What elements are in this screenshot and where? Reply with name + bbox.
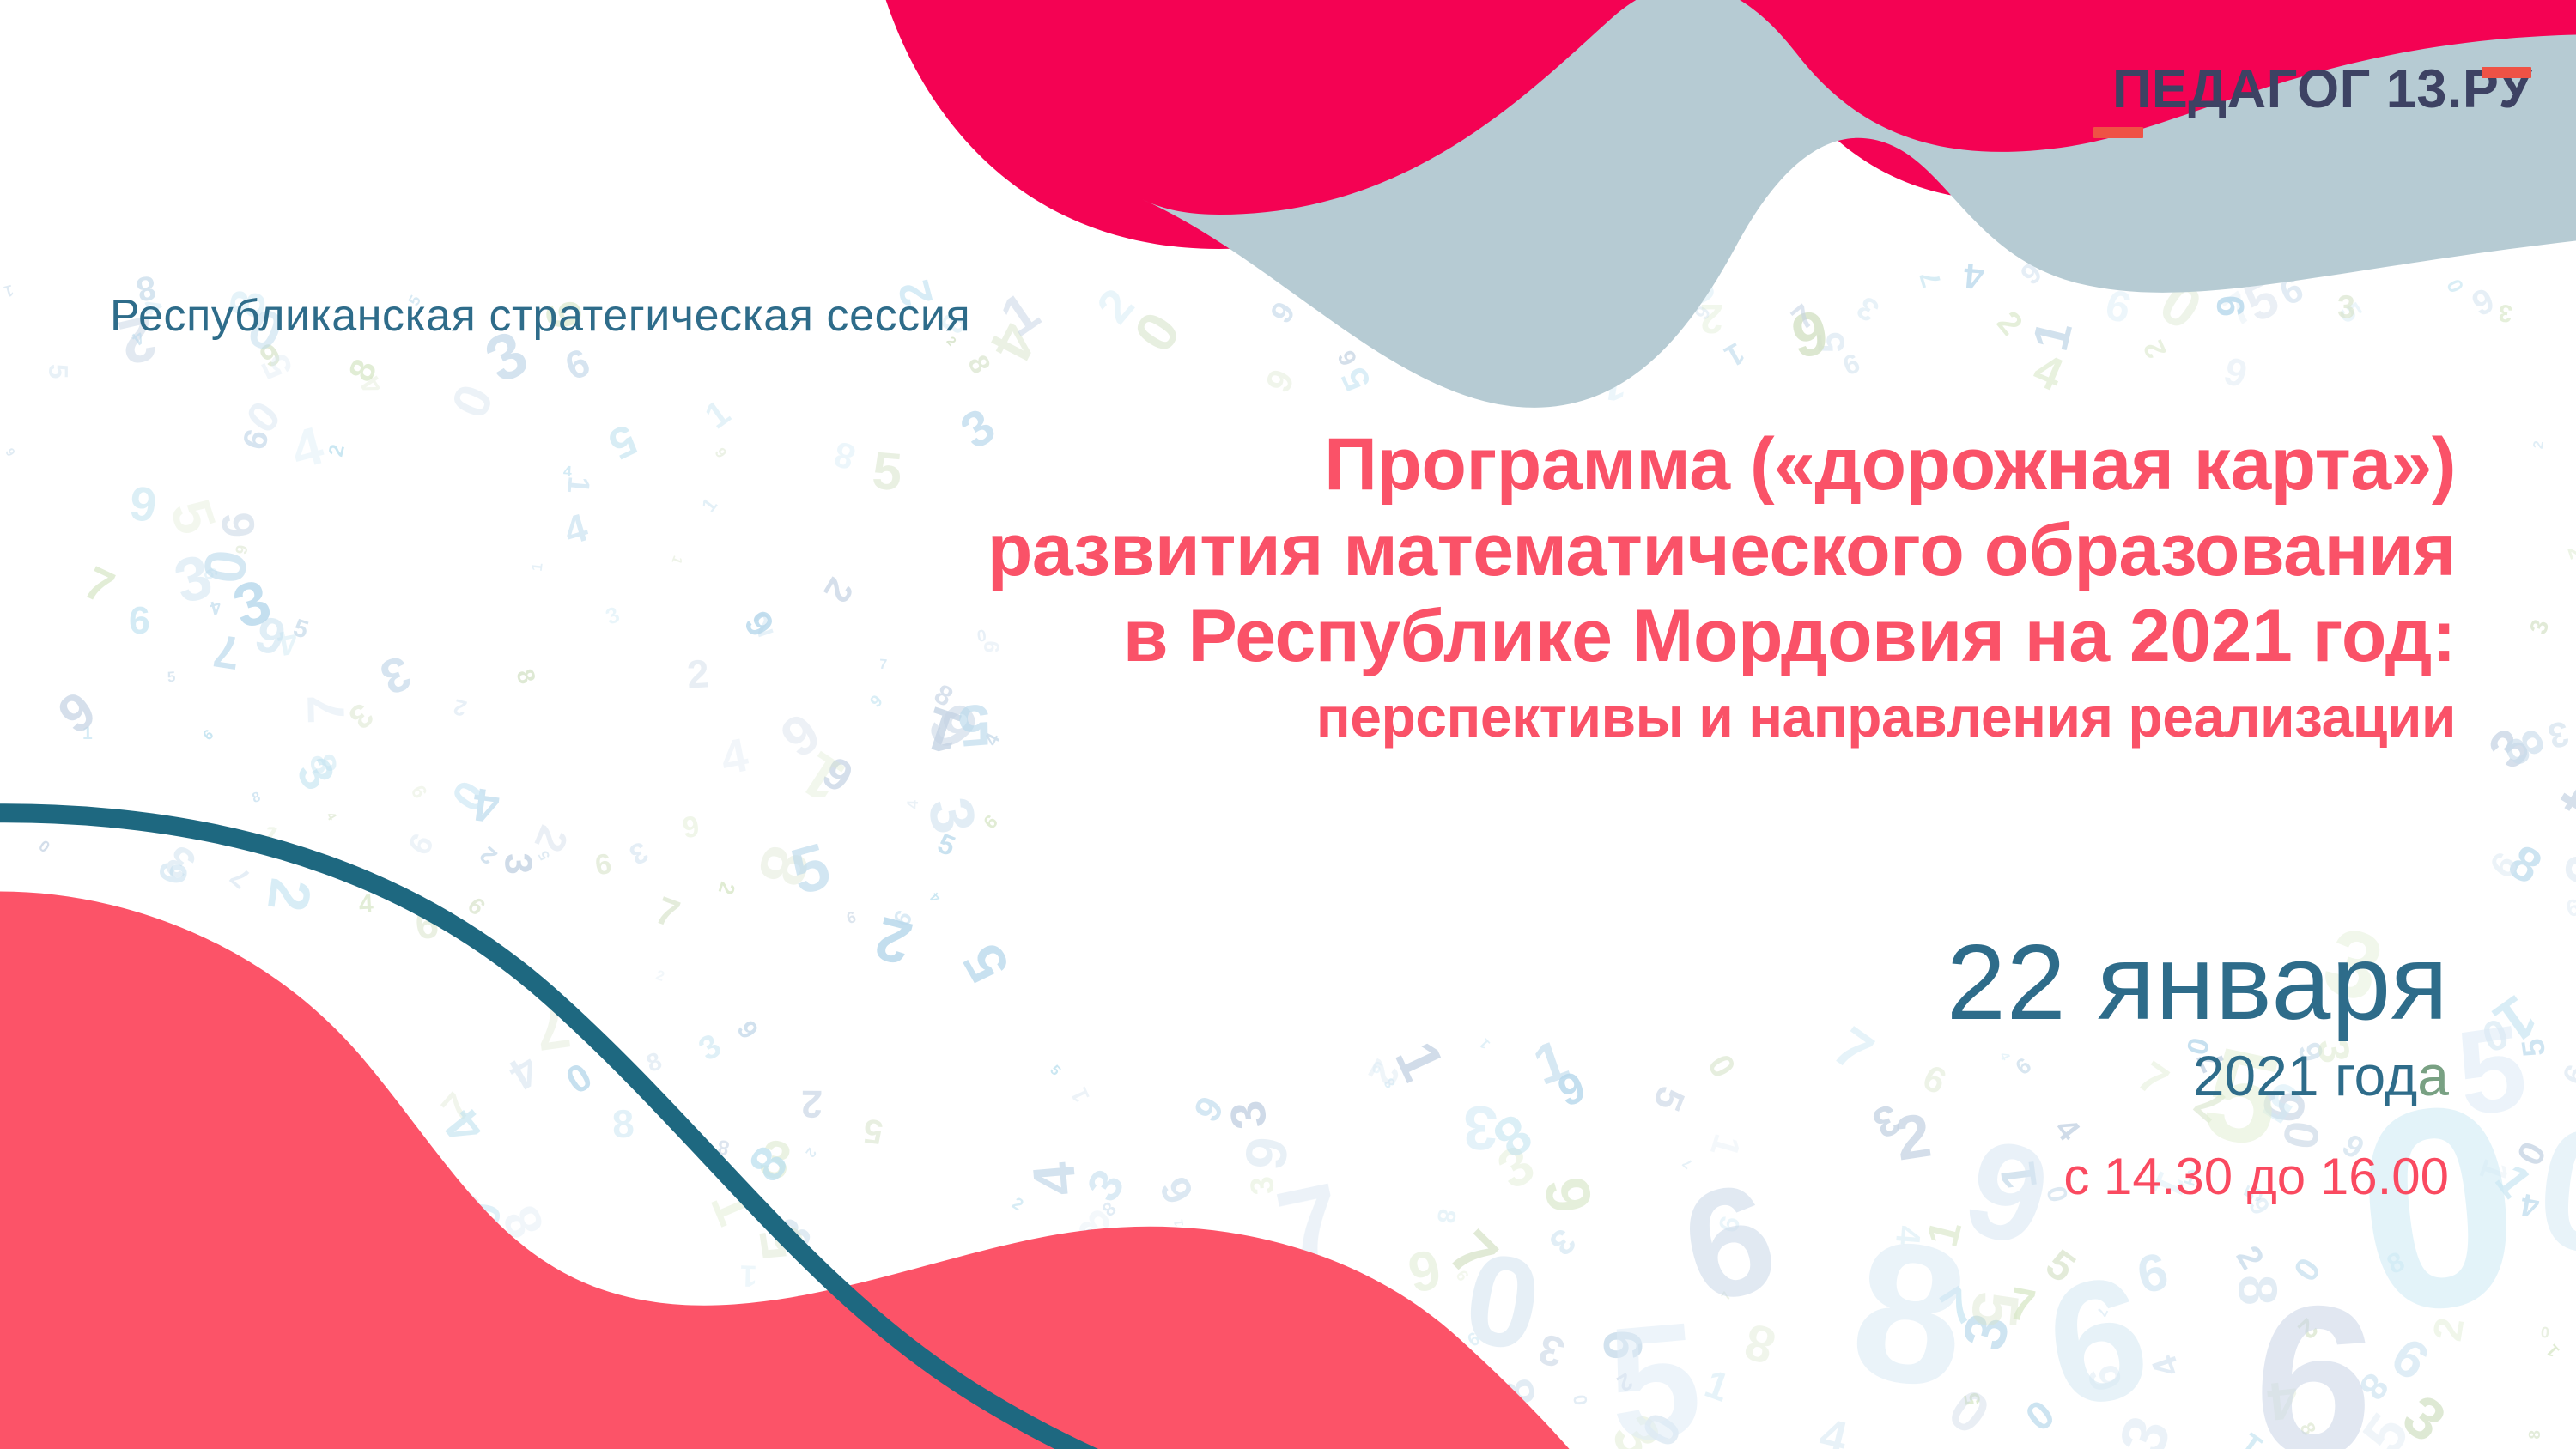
poster-canvas: 1815353431534853736594804309059396487296… — [0, 0, 2576, 1449]
decorative-digit: 4 — [927, 890, 943, 906]
decorative-digit: 4 — [1962, 258, 1985, 294]
decorative-digit: 2 — [2230, 1240, 2269, 1275]
decorative-digit: 5 — [1047, 1063, 1062, 1078]
decorative-digit: 7 — [300, 694, 353, 724]
decorative-digit: 1 — [806, 1395, 866, 1449]
overline-accent-icon — [2482, 67, 2531, 78]
decorative-digit: 0 — [950, 1361, 1010, 1396]
decorative-digit: 0 — [2476, 1011, 2512, 1059]
decorative-digit: 3 — [1601, 1405, 1671, 1449]
decorative-digit: 7 — [1720, 1290, 1734, 1302]
decorative-digit: 7 — [225, 862, 255, 893]
decorative-digit: 7 — [1787, 300, 1822, 336]
decorative-digit: 8 — [495, 1198, 553, 1246]
decorative-digit: 4 — [1375, 327, 1398, 348]
decorative-digit: 9 — [1142, 1278, 1163, 1292]
decorative-digit: 3 — [1060, 1216, 1117, 1276]
decorative-digit: 1 — [2544, 1341, 2563, 1360]
decorative-digit: 9 — [234, 543, 252, 555]
decorative-digit: 4 — [2147, 1351, 2186, 1381]
decorative-digit: 7 — [113, 1410, 177, 1449]
decorative-digit: 4 — [436, 1100, 494, 1154]
decorative-digit: 6 — [2467, 282, 2499, 322]
decorative-digit: 2 — [873, 1431, 894, 1449]
decorative-digit: 7 — [532, 994, 574, 1059]
decorative-digit: 4 — [181, 1288, 210, 1319]
decorative-digit: 8 — [1473, 324, 1508, 367]
decorative-digit: 0 — [2288, 1252, 2327, 1288]
decorative-digit: 6 — [2220, 350, 2251, 394]
decorative-digit: 5 — [251, 1431, 308, 1449]
decorative-digit: 4 — [1213, 1359, 1225, 1373]
decorative-digit: 8 — [267, 1080, 321, 1140]
event-category-label: Республиканская стратегическая сессия — [110, 290, 970, 342]
svg-text:8: 8 — [1840, 1197, 1979, 1430]
decorative-digit: 9 — [201, 565, 222, 583]
decorative-digit: 3 — [227, 571, 277, 640]
decorative-digit: 9 — [254, 338, 286, 374]
decorative-digit: 1 — [699, 394, 736, 435]
decorative-digit: 5 — [427, 1203, 469, 1238]
decorative-digit: 2 — [800, 1084, 822, 1123]
decorative-digit: 6 — [266, 992, 295, 1022]
decorative-digit: 1 — [1920, 1216, 1969, 1251]
decorative-digit: 5 — [781, 1374, 827, 1434]
decorative-digit: 5 — [2333, 299, 2366, 328]
decorative-digit: 2 — [452, 694, 469, 718]
decorative-digit: 9 — [494, 1378, 524, 1430]
decorative-digit: 4 — [2264, 1371, 2300, 1428]
decorative-digit: 1 — [252, 1047, 281, 1089]
decorative-digit: 0 — [194, 546, 257, 587]
decorative-digit: 4 — [905, 800, 921, 809]
decorative-digit: 4 — [1024, 1161, 1085, 1198]
event-date-year-main: 2021 год — [2193, 1044, 2418, 1107]
decorative-digit: 1 — [562, 475, 594, 494]
decorative-digit: 3 — [1079, 1162, 1133, 1210]
decorative-digit: 4 — [286, 419, 329, 478]
decorative-digit: 0 — [988, 1275, 1018, 1319]
decorative-digit: 3 — [1543, 1222, 1582, 1261]
decorative-digit: 6 — [403, 829, 440, 861]
decorative-digit: 7 — [2216, 285, 2262, 335]
svg-text:0: 0 — [2530, 1091, 2576, 1291]
decorative-digit: 0 — [239, 394, 289, 441]
decorative-digit: 5 — [862, 1113, 885, 1149]
decorative-digit: 9 — [1464, 1329, 1483, 1350]
decorative-digit: 2 — [870, 906, 918, 973]
decorative-digit: 2 — [714, 879, 738, 896]
event-date-year-tail: а — [2417, 1044, 2449, 1107]
decorative-digit: 3 — [694, 1028, 726, 1067]
decorative-digit: 4 — [152, 1410, 180, 1433]
decorative-digit: 6 — [395, 1322, 445, 1391]
decorative-digit: 1 — [669, 554, 684, 566]
decorative-digit: 2 — [1700, 297, 1723, 338]
decorative-digit: 2 — [2530, 440, 2545, 449]
decorative-digit: 5 — [144, 1283, 189, 1331]
decorative-digit: 3 — [1362, 1307, 1413, 1369]
decorative-digit: 8 — [747, 839, 820, 894]
decorative-digit: 9 — [2483, 846, 2524, 883]
decorative-digit: 8 — [343, 355, 382, 386]
decorative-digit: 8 — [549, 1398, 597, 1449]
decorative-digit: 0 — [180, 1089, 220, 1143]
decorative-digit: 8 — [741, 1138, 797, 1191]
decorative-digit: 6 — [412, 904, 440, 948]
decorative-digit: 1 — [2484, 985, 2547, 1053]
decorative-digit: 9 — [214, 511, 261, 539]
decorative-digit: 3 — [755, 1131, 795, 1190]
decorative-digit: 1 — [702, 1180, 767, 1232]
decorative-digit: 7 — [1916, 268, 1947, 290]
decorative-digit: 8 — [2352, 1367, 2394, 1406]
decorative-digit: 5 — [2518, 1036, 2551, 1058]
decorative-digit: 1 — [699, 495, 721, 516]
decorative-digit: 6 — [2275, 270, 2309, 312]
decorative-digit: 6 — [4, 446, 18, 458]
event-date-day: 22 января — [1161, 927, 2449, 1039]
decorative-digit: 9 — [732, 1016, 763, 1042]
decorative-digit: 9 — [536, 1443, 584, 1449]
decorative-digit: 6 — [250, 607, 292, 664]
decorative-digit: 8 — [2501, 837, 2549, 893]
decorative-digit: 9 — [1259, 364, 1299, 397]
decorative-digit: 0 — [2445, 276, 2469, 295]
decorative-digit: 5 — [1961, 1289, 2029, 1331]
decorative-digit: 4 — [208, 597, 223, 618]
decorative-digit: 4 — [560, 508, 592, 552]
decorative-digit: 3 — [2108, 1409, 2181, 1449]
decorative-digit: 1 — [1700, 1363, 1735, 1408]
decorative-digit: 6 — [2383, 1330, 2438, 1390]
decorative-digit: 6 — [407, 783, 430, 803]
decorative-digit: 3 — [158, 838, 203, 887]
decorative-digit: 9 — [58, 1145, 75, 1160]
decorative-digit: 3 — [1953, 1308, 2020, 1356]
decorative-digit: 4 — [980, 314, 1047, 370]
decorative-digit: 5 — [2353, 1404, 2418, 1449]
decorative-digit: 3 — [58, 1013, 108, 1057]
decorative-digit: 6 — [665, 1403, 681, 1416]
decorative-digit: 8 — [643, 1049, 665, 1077]
underscore-accent-icon — [2093, 127, 2143, 138]
decorative-digit: 8 — [26, 1004, 54, 1043]
title-line-3: в Республике Мордовия на 2021 год: — [747, 594, 2456, 680]
decorative-digit: 3 — [343, 697, 379, 735]
decorative-digit: 4 — [323, 810, 337, 822]
decorative-digit: 3 — [918, 793, 985, 838]
decorative-digit: 3 — [249, 1379, 294, 1428]
decorative-digit: 9 — [980, 811, 1000, 832]
decorative-digit: 5 — [1034, 1408, 1055, 1428]
decorative-digit: 9 — [816, 749, 860, 800]
decorative-digit: 4 — [787, 1288, 844, 1325]
decorative-digit: 4 — [2027, 346, 2069, 399]
decorative-digit: 5 — [2237, 271, 2287, 331]
decorative-digit: 7 — [2093, 1305, 2110, 1318]
svg-text:0: 0 — [1455, 1224, 1550, 1379]
decorative-digit: 2 — [2095, 1445, 2152, 1449]
decorative-digit: 1 — [388, 1238, 423, 1274]
decorative-digit: 9 — [50, 683, 105, 743]
decorative-digit: 6 — [127, 478, 160, 529]
decorative-digit: 2 — [686, 653, 710, 694]
decorative-digit: 5 — [750, 1222, 815, 1264]
decorative-digit: 3 — [374, 647, 416, 702]
decorative-digit: 1 — [2487, 1157, 2539, 1206]
decorative-digit: 8 — [512, 666, 539, 687]
decorative-digit: 2 — [258, 876, 319, 915]
decorative-digit: 1 — [3, 281, 15, 299]
decorative-digit: 8 — [1739, 1314, 1780, 1372]
decorative-digit: 9 — [1839, 349, 1862, 379]
decorative-digit: 0 — [1634, 1405, 1691, 1449]
decorative-digit: 0 — [82, 963, 154, 1028]
decorative-digit: 5 — [1812, 331, 1850, 355]
decorative-digit: 0 — [1938, 1379, 1998, 1445]
decorative-digit: 1 — [616, 1339, 658, 1369]
decorative-digit: 5 — [1510, 314, 1536, 358]
decorative-digit: 6 — [2563, 895, 2576, 922]
decorative-digit: 1 — [255, 821, 283, 852]
decorative-digit: 0 — [445, 773, 495, 819]
decorative-digit: 2 — [1089, 282, 1142, 332]
decorative-digit: 9 — [592, 847, 613, 878]
decorative-digit: 0 — [37, 837, 53, 855]
title-line-4: перспективы и направления реализации — [747, 679, 2456, 752]
decorative-digit: 6 — [463, 893, 489, 919]
decorative-digit: 4 — [502, 1046, 546, 1097]
decorative-digit: 3 — [2498, 300, 2514, 325]
decorative-digit: 7 — [1438, 1220, 1508, 1289]
decorative-digit: 1 — [1599, 358, 1631, 408]
decorative-digit: 9 — [680, 812, 701, 844]
decorative-digit: 2 — [1009, 1196, 1026, 1216]
decorative-digit: 9 — [2016, 258, 2047, 291]
decorative-digit: 6 — [2132, 1245, 2172, 1302]
decorative-digit: 8 — [2527, 1430, 2543, 1440]
decorative-digit: 1 — [2411, 1441, 2471, 1449]
decorative-digit: 1 — [2234, 1427, 2269, 1449]
decorative-digit: 0 — [559, 1056, 598, 1100]
decorative-digit: 4 — [275, 623, 300, 661]
decorative-digit: 3 — [1534, 1326, 1569, 1373]
event-datetime-block: 22 января 2021 года с 14.30 до 16.00 — [1161, 927, 2449, 1208]
decorative-digit: 0 — [1169, 1353, 1189, 1368]
decorative-digit: 2 — [1613, 1369, 1637, 1396]
decorative-digit: 2 — [476, 842, 501, 869]
decorative-digit: 3 — [624, 835, 652, 869]
decorative-digit: 5 — [2038, 1242, 2081, 1289]
decorative-digit: 0 — [1570, 1393, 1589, 1406]
decorative-digit: 8 — [716, 1136, 731, 1158]
decorative-digit: 0 — [2019, 1393, 2062, 1439]
decorative-digit: 7 — [651, 890, 684, 934]
decorative-digit: 9 — [2081, 1360, 2129, 1397]
decorative-digit: 6 — [129, 602, 150, 640]
decorative-digit: 4 — [355, 370, 387, 399]
decorative-digit: 4 — [283, 1035, 301, 1046]
decorative-digit: 2 — [174, 826, 193, 840]
decorative-digit: 3 — [2525, 617, 2553, 638]
decorative-digit: 2 — [325, 443, 348, 458]
decorative-digit: 2 — [2427, 1314, 2471, 1343]
decorative-digit: 8 — [251, 791, 262, 806]
decorative-digit: 5 — [785, 833, 837, 905]
decorative-digit: 1 — [82, 724, 93, 743]
decorative-digit: 2 — [46, 1029, 60, 1052]
decorative-digit: 8 — [304, 750, 343, 777]
decorative-digit: 5 — [1335, 361, 1377, 396]
decorative-digit: 2 — [2293, 1313, 2323, 1343]
decorative-digit: 5 — [45, 364, 71, 379]
decorative-digit: 3 — [2545, 715, 2573, 754]
decorative-digit: 7 — [1083, 1267, 1098, 1292]
decorative-digit: 7 — [77, 560, 120, 613]
decorative-digit: 4 — [2549, 772, 2576, 829]
decorative-digit: 1 — [1503, 1439, 1552, 1449]
decorative-digit: 1 — [992, 283, 1048, 346]
decorative-digit: 0 — [2540, 1324, 2549, 1340]
decorative-digit: 9 — [2212, 295, 2251, 318]
decorative-digit: 4 — [562, 464, 572, 479]
event-date-year: 2021 года — [1161, 1042, 2449, 1110]
decorative-digit: 5 — [933, 829, 958, 861]
decorative-digit: 5 — [1648, 342, 1663, 360]
decorative-digit: 0 — [2150, 271, 2211, 340]
decorative-digit: 7 — [1934, 1279, 1984, 1336]
decorative-digit: 2 — [1990, 306, 2027, 342]
decorative-digit: 9 — [1266, 296, 1301, 328]
decorative-digit: 8 — [767, 1210, 819, 1258]
decorative-digit: 2 — [803, 1145, 818, 1160]
decorative-digit: 3 — [2337, 291, 2355, 323]
decorative-digit: 4 — [556, 1294, 595, 1354]
decorative-digit: 4 — [420, 1224, 442, 1254]
decorative-digit: 6 — [1714, 1213, 1745, 1235]
decorative-digit: 6 — [889, 906, 916, 931]
decorative-digit: 5 — [289, 615, 310, 644]
decorative-digit: 2 — [2563, 543, 2576, 561]
decorative-digit: 4 — [348, 1354, 356, 1369]
decorative-digit: 3 — [2393, 1385, 2456, 1449]
decorative-digit: 6 — [2100, 282, 2135, 330]
decorative-digit: 9 — [921, 1427, 980, 1449]
decorative-digit: 5 — [603, 416, 643, 466]
decorative-digit: 6 — [154, 859, 196, 888]
svg-text:6: 6 — [2034, 1239, 2161, 1444]
brand-logo[interactable]: ПЕДАГОГ 13.РУ — [2081, 43, 2562, 146]
decorative-digit: 3 — [1852, 290, 1885, 327]
decorative-digit: 9 — [932, 1363, 968, 1405]
decorative-digit: 7 — [2005, 1282, 2038, 1331]
decorative-digit: 7 — [87, 900, 130, 968]
svg-text:5: 5 — [2449, 998, 2534, 1141]
decorative-digit: 9 — [1788, 301, 1833, 368]
title-line-2: развития математического образования — [747, 508, 2456, 594]
decorative-digit: 3 — [497, 852, 537, 876]
decorative-digit: 0 — [1125, 303, 1190, 361]
decorative-digit: 4 — [463, 1193, 480, 1203]
decorative-digit: 8 — [2296, 1420, 2319, 1439]
decorative-digit: 3 — [283, 1368, 319, 1395]
decorative-digit: 8 — [1358, 1375, 1372, 1390]
decorative-digit: 9 — [1596, 1329, 1651, 1360]
decorative-digit: 5 — [954, 934, 1020, 990]
decorative-digit: 1 — [2026, 316, 2081, 355]
title-line-1: Программа («дорожная карта») — [747, 422, 2456, 508]
decorative-digit: 3 — [1015, 1290, 1049, 1321]
decorative-digit: 5 — [167, 670, 176, 685]
decorative-digit: 0 — [442, 378, 501, 425]
decorative-digit: 4 — [1279, 1437, 1339, 1449]
logo-text: ПЕДАГОГ 13.РУ — [2112, 58, 2532, 120]
decorative-digit: 4 — [359, 891, 375, 918]
decorative-digit: 4 — [2518, 1188, 2542, 1222]
decorative-digit: 0 — [461, 1200, 508, 1231]
decorative-digit: 8 — [611, 1104, 635, 1144]
decorative-digit: 3 — [1370, 1286, 1378, 1300]
decorative-digit: 2 — [527, 820, 574, 858]
decorative-digit: 6 — [2557, 1060, 2576, 1089]
decorative-digit: 3 — [1070, 1201, 1118, 1249]
decorative-digit: 6 — [1200, 1237, 1247, 1299]
decorative-digit: 8 — [172, 1366, 203, 1398]
decorative-digit: 8 — [1492, 1375, 1543, 1410]
decorative-digit: 8 — [1099, 1199, 1120, 1221]
decorative-digit: 2 — [2139, 336, 2172, 363]
decorative-digit: 1 — [1720, 337, 1749, 373]
decorative-digit: 4 — [470, 780, 501, 830]
decorative-digit: 0 — [1257, 1408, 1293, 1449]
decorative-digit: 5 — [412, 1364, 445, 1384]
decorative-digit: 5 — [536, 848, 552, 862]
decorative-digit: 9 — [235, 426, 272, 453]
decorative-digit: 5 — [161, 494, 225, 541]
decorative-digit: 6 — [1334, 347, 1361, 369]
decorative-digit: 3 — [289, 750, 343, 798]
decorative-digit: 8 — [2494, 722, 2555, 773]
decorative-digit: 9 — [200, 726, 216, 742]
decorative-digit: 4 — [1889, 1224, 1924, 1246]
decorative-digit: 8 — [558, 1314, 592, 1347]
decorative-digit: 6 — [560, 342, 595, 386]
decorative-digit: 7 — [210, 627, 243, 676]
decorative-digit: 3 — [168, 545, 218, 614]
decorative-digit: 6 — [1452, 1268, 1471, 1284]
decorative-digit: 9 — [1692, 303, 1715, 324]
decorative-digit: 2 — [654, 968, 666, 985]
decorative-digit: 1 — [1173, 1218, 1187, 1228]
svg-text:5: 5 — [1601, 1288, 1708, 1449]
decorative-digit: 8 — [1432, 1207, 1460, 1225]
decorative-digit: 9 — [1404, 1241, 1445, 1302]
decorative-digit: 3 — [603, 603, 623, 628]
decorative-digit: 8 — [513, 1288, 539, 1312]
decorative-digit: 0 — [74, 1023, 117, 1088]
decorative-digit: 3 — [2480, 719, 2539, 778]
svg-text:6: 6 — [2246, 1258, 2382, 1449]
decorative-digit: 1 — [1067, 1084, 1094, 1106]
decorative-digit: 7 — [434, 1087, 477, 1128]
decorative-digit: 1 — [2473, 1155, 2515, 1186]
decorative-digit: 8 — [2384, 1247, 2409, 1279]
decorative-digit: 4 — [148, 1074, 165, 1092]
decorative-digit: 8 — [2229, 1274, 2285, 1306]
decorative-digit: 1 — [530, 561, 545, 572]
decorative-digit: 1 — [739, 1259, 757, 1290]
